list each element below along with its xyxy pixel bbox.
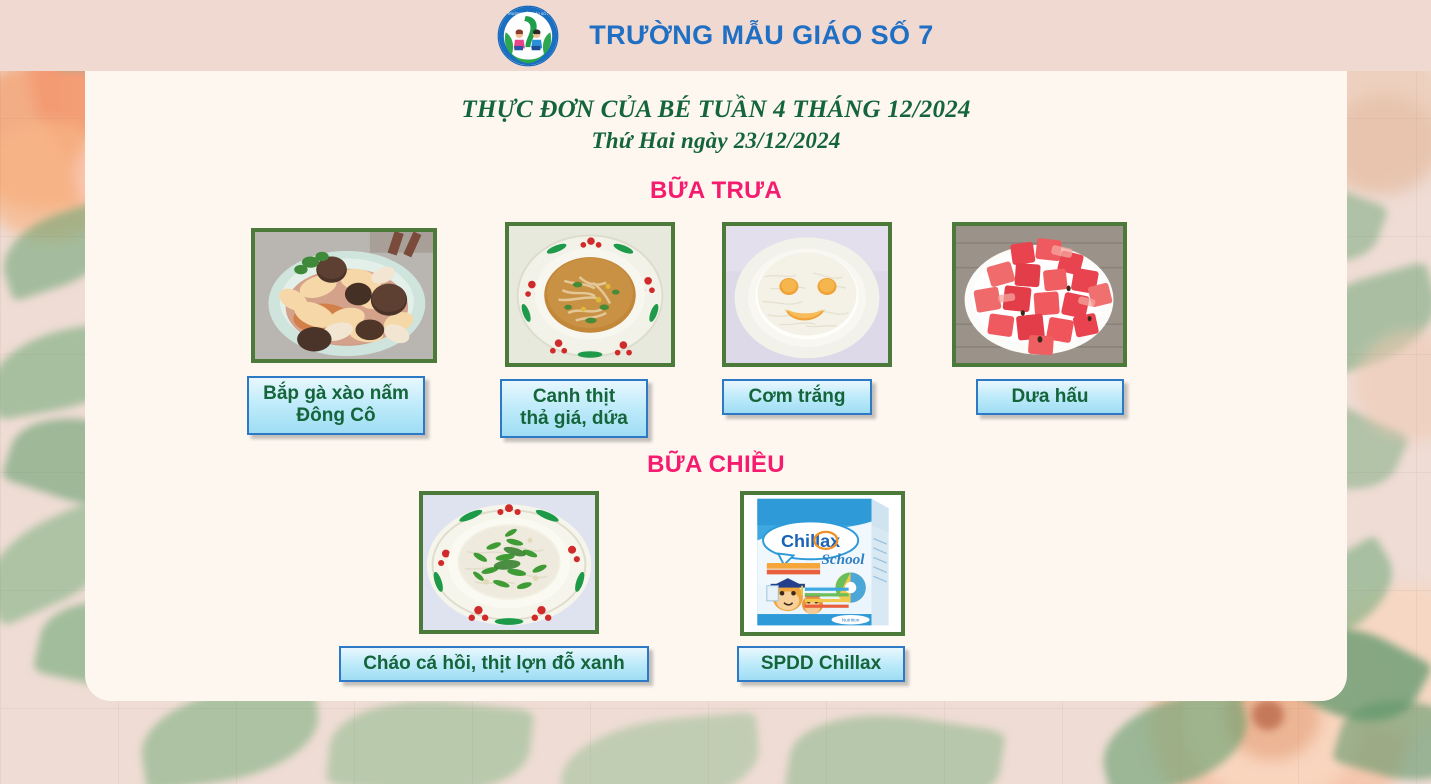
dish-card-lunch-2: Canh thịt thả giá, dứa — [505, 222, 675, 367]
section-heading-dinner: BỮA CHIỀU — [85, 451, 1347, 479]
white-rice-smiley-photo — [722, 222, 892, 367]
menu-title: THỰC ĐƠN CỦA BÉ TUẦN 4 THÁNG 12/2024 — [85, 93, 1347, 126]
dish-card-lunch-1: Bắp gà xào nấm Đông Cô — [251, 228, 437, 363]
school-name-title: TRƯỜNG MẪU GIÁO SỐ 7 — [589, 20, 933, 51]
dish-card-lunch-3: Cơm trắng — [722, 222, 892, 367]
menu-panel: THỰC ĐƠN CỦA BÉ TUẦN 4 THÁNG 12/2024 Thứ… — [85, 71, 1347, 701]
school-logo: TRƯỜNG MẪU GIÁO SỐ 7 — [497, 5, 559, 67]
slide-canvas: TRƯỜNG MẪU GIÁO SỐ 7 TRƯ — [0, 0, 1431, 784]
header-band: TRƯỜNG MẪU GIÁO SỐ 7 TRƯ — [0, 0, 1431, 71]
dish-card-lunch-4: Dưa hấu — [952, 222, 1127, 367]
svg-text:TRƯỜNG MẪU GIÁO SỐ 7: TRƯỜNG MẪU GIÁO SỐ 7 — [508, 10, 549, 15]
dish-label-lunch-3: Cơm trắng — [722, 379, 872, 415]
dish-label-lunch-4: Dưa hấu — [976, 379, 1124, 415]
menu-subtitle: Thứ Hai ngày 23/12/2024 — [85, 126, 1347, 156]
dish-label-lunch-2: Canh thịt thả giá, dứa — [500, 379, 648, 438]
chillax-milk-box-photo: Chillax School — [740, 491, 905, 636]
dish-label-lunch-1: Bắp gà xào nấm Đông Cô — [247, 376, 425, 435]
menu-title-block: THỰC ĐƠN CỦA BÉ TUẦN 4 THÁNG 12/2024 Thứ… — [85, 93, 1347, 156]
section-heading-lunch: BỮA TRƯA — [85, 177, 1347, 205]
dish-label-dinner-2: SPDD Chillax — [737, 646, 905, 682]
svg-text:School: School — [821, 551, 865, 568]
dish-card-dinner-1: Cháo cá hồi, thịt lợn đỗ xanh — [419, 491, 599, 634]
salmon-porridge-photo — [419, 491, 599, 634]
svg-text:Nutrition: Nutrition — [842, 618, 860, 624]
pork-beansprout-soup-photo — [505, 222, 675, 367]
dish-label-dinner-1: Cháo cá hồi, thịt lợn đỗ xanh — [339, 646, 649, 682]
chicken-shiitake-photo — [251, 228, 437, 363]
dish-card-dinner-2: Chillax School — [740, 491, 905, 636]
watermelon-cubes-photo — [952, 222, 1127, 367]
